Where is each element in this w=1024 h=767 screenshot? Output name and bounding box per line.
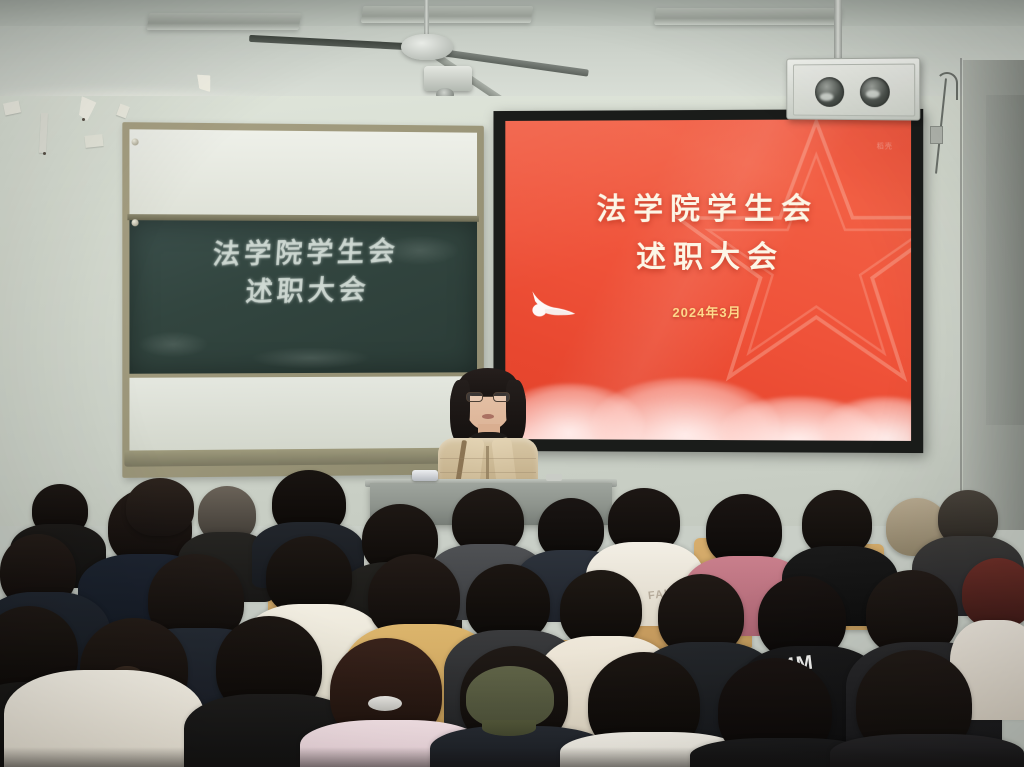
wall-corner-edge xyxy=(960,58,962,530)
projector-housing xyxy=(786,57,920,120)
lens-glint xyxy=(866,90,880,98)
audience-head xyxy=(126,478,194,536)
ceiling-fan-rod xyxy=(424,0,429,38)
audience-head xyxy=(962,558,1024,628)
classroom-scene: 法学院学生会 述职大会 xyxy=(0,0,1024,767)
board-lower-panel xyxy=(129,376,477,450)
glasses-icon xyxy=(466,392,510,402)
whiteboard-panel xyxy=(129,129,477,216)
board-bolt xyxy=(132,219,139,226)
chalk-line-2: 述职大会 xyxy=(129,270,477,315)
glasses-lens xyxy=(493,392,510,402)
fluorescent-light-2 xyxy=(361,6,533,23)
wall-mark xyxy=(43,152,46,155)
audience: FAIRY 04M xyxy=(0,470,1024,767)
fluorescent-light-1 xyxy=(147,13,302,30)
fluorescent-light-3 xyxy=(654,8,842,25)
presenter-hair-side xyxy=(450,380,470,442)
projector-faceplate xyxy=(793,64,915,117)
slide-title-line-1: 法学院学生会 xyxy=(505,185,911,234)
presenter-hair-side xyxy=(506,380,526,442)
lens-glint xyxy=(820,93,834,101)
glasses-lens xyxy=(466,392,483,402)
blackboard-unit: 法学院学生会 述职大会 xyxy=(122,122,484,478)
projection-screen: 法学院学生会 述职大会 2024年3月 稻壳 xyxy=(505,119,911,441)
floor-shadow xyxy=(0,747,1024,767)
hair-tie xyxy=(368,696,402,711)
chalk-smudge xyxy=(138,331,209,357)
wall-paper-scrap xyxy=(84,134,103,148)
ceiling-fan-icon xyxy=(401,34,453,60)
slide-title: 法学院学生会 述职大会 xyxy=(505,185,911,282)
hanging-cable xyxy=(936,72,958,100)
chalk-tray xyxy=(124,447,482,466)
projector-lens-icon xyxy=(815,77,844,107)
glasses-bridge xyxy=(483,396,493,397)
slide-title-line-2: 述职大会 xyxy=(505,234,911,282)
slide-watermark: 稻壳 xyxy=(877,141,893,151)
ceiling-projector xyxy=(424,66,472,91)
slide-date: 2024年3月 xyxy=(505,302,911,321)
jacket-seam xyxy=(440,458,536,459)
cap-icon xyxy=(466,666,554,728)
wall-outlet xyxy=(930,126,943,144)
speaker-mount-rod xyxy=(834,0,842,58)
cap-brim xyxy=(482,720,536,736)
wall-mark xyxy=(82,118,85,121)
chalk-smudge xyxy=(251,347,371,369)
projection-screen-frame: 法学院学生会 述职大会 2024年3月 稻壳 xyxy=(493,109,923,453)
board-bolt xyxy=(132,138,139,145)
presenter-mouth xyxy=(482,414,494,419)
chalkboard-text: 法学院学生会 述职大会 xyxy=(129,232,477,315)
projector-lens-icon xyxy=(860,77,890,107)
side-wall xyxy=(986,95,1024,425)
chalkboard: 法学院学生会 述职大会 xyxy=(129,220,477,374)
